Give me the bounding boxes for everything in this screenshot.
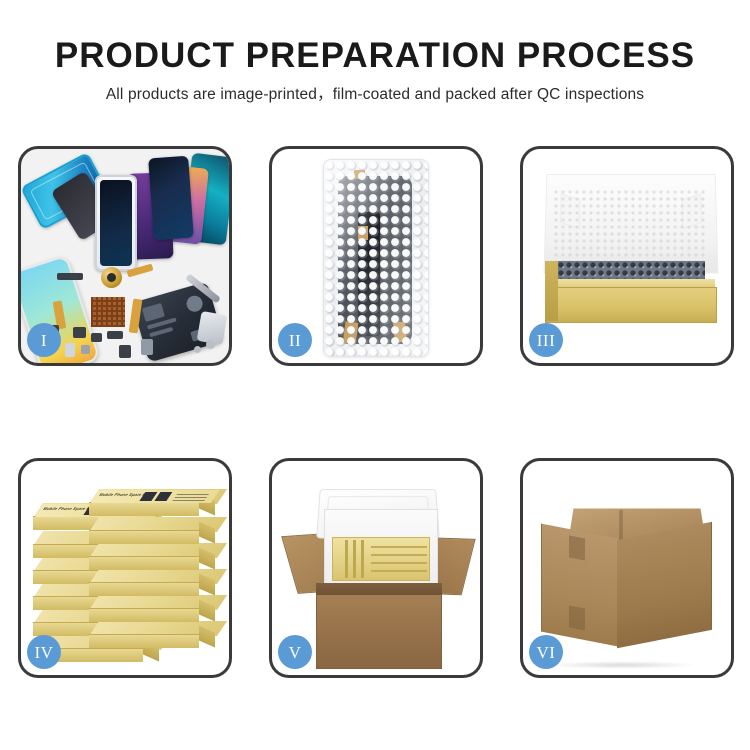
sealed-carton [541,487,719,651]
step-panel-1: I [18,146,232,366]
plastic-sheen [324,160,428,356]
yellow-boxes-inside [332,537,430,581]
step-panel-6: VI [520,458,734,678]
box-stack: Mobile Phone Spare Parts [31,475,227,667]
phone-glass-screen [95,175,137,271]
bubble-wrap-bag [323,159,429,357]
process-step-grid: I II [18,146,734,678]
speaker-coil-part [101,267,122,288]
step-badge-1: I [27,323,61,357]
small-part-6 [81,345,90,354]
yellow-box-side [545,261,558,321]
step-panel-2: II [269,146,483,366]
screw-2 [194,346,201,353]
small-part-5 [119,345,131,358]
carton-tape-upper [569,535,585,560]
open-carton [290,479,468,667]
stacked-box [89,621,217,647]
product-preparation-infographic: PRODUCT PREPARATION PROCESS All products… [0,0,750,750]
step-badge-3: III [529,323,563,357]
stacked-box [89,569,217,595]
step-badge-6: VI [529,635,563,669]
page-subtitle: All products are image-printed，film-coat… [0,85,750,105]
small-part-7 [65,343,75,357]
stacked-box [89,517,217,543]
phone-navy [148,156,194,241]
carton-tape-lower [569,605,585,630]
small-part-2 [73,327,86,338]
carton-shadow [547,661,697,669]
step-panel-5: V [269,458,483,678]
step-panel-3: III [520,146,734,366]
header: PRODUCT PREPARATION PROCESS All products… [0,36,750,105]
carton-body [316,583,442,669]
step-badge-2: II [278,323,312,357]
page-title: PRODUCT PREPARATION PROCESS [0,36,750,76]
yellow-box-front [545,287,717,323]
label-screen-swatch [154,492,172,501]
step-panel-4: Mobile Phone Spare Parts [18,458,232,678]
step-badge-5: V [278,635,312,669]
carton-right-face [617,522,712,648]
small-part-8 [141,339,153,355]
small-part-3 [91,333,102,342]
chip-grid-part [91,297,125,327]
stacked-box-labelled: Mobile Phone Spare Parts [89,489,217,515]
step-badge-4: IV [27,635,61,669]
box-label: Mobile Phone Spare Parts [91,490,220,503]
screw-1 [206,340,215,349]
small-part-1 [57,273,83,280]
small-part-4 [107,331,123,339]
stacked-box [89,543,217,569]
label-spec-lines [172,492,210,501]
stacked-box [89,595,217,621]
